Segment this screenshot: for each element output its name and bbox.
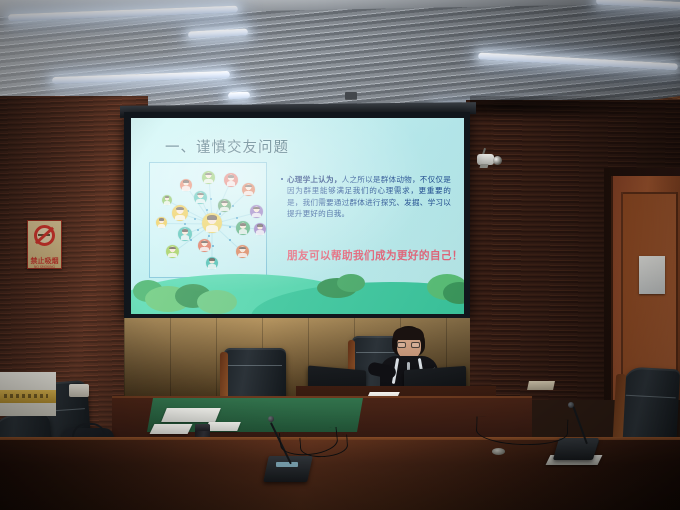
avatar — [236, 245, 249, 258]
avatar-body — [200, 247, 208, 252]
avatar-body — [168, 253, 176, 258]
avatar-body — [164, 201, 170, 205]
avatar — [156, 217, 167, 228]
side-cabinet — [0, 372, 56, 416]
network-node-dot — [206, 209, 208, 211]
no-smoking-sign: 禁止吸烟 NO SMOKING — [27, 220, 62, 269]
microphone-base-right[interactable] — [553, 438, 599, 460]
avatar-hair — [201, 241, 207, 244]
avatar — [242, 183, 255, 196]
avatar — [180, 179, 192, 191]
avatar — [224, 173, 238, 187]
ceiling-light-4 — [228, 92, 250, 100]
avatar-body — [204, 179, 212, 184]
avatar-hair — [221, 201, 227, 204]
avatar-hair — [176, 207, 184, 211]
avatar-body — [175, 215, 185, 221]
ceiling-vent-icon — [345, 92, 357, 99]
door-note — [639, 256, 665, 294]
avatar — [172, 205, 188, 221]
network-node-dot — [184, 223, 186, 225]
avatar-body — [206, 225, 219, 232]
table-papers-3 — [205, 422, 241, 431]
bush-4 — [197, 290, 237, 314]
avatar — [236, 221, 250, 235]
avatar-body — [244, 191, 252, 196]
avatar-body — [158, 224, 165, 228]
avatar-hair — [240, 223, 247, 226]
avatar-body — [239, 229, 248, 234]
avatar-hair — [159, 218, 164, 220]
avatar-hair — [183, 180, 189, 183]
avatar — [162, 195, 172, 205]
chair-back-left-frame — [220, 352, 228, 400]
glasses-lens-left — [397, 342, 406, 348]
avatar — [198, 239, 211, 252]
avatar-body — [227, 181, 236, 186]
conference-room-photo: 禁止吸烟 NO SMOKING 一、谨慎交友问题 心理学上认为，人之所以是群体动… — [0, 0, 680, 510]
avatar-hair — [245, 185, 251, 188]
slide-body-lead: 心理学上认为， — [287, 175, 342, 184]
bottle-cap — [195, 424, 210, 431]
avatar-hair — [197, 193, 203, 196]
projection-screen: 一、谨慎交友问题 心理学上认为，人之所以是群体动物，不仅仅是因为群里能够满足我们… — [131, 118, 464, 314]
microphone-head-right — [568, 402, 574, 408]
chair-back-left — [224, 348, 286, 402]
avatar — [194, 191, 207, 204]
avatar-hair — [165, 196, 170, 198]
cabinet-label-band — [0, 390, 56, 403]
glasses-lens-right — [411, 342, 420, 348]
avatar-hair — [239, 247, 245, 250]
camera-lens — [493, 156, 502, 165]
avatar-hair — [182, 229, 189, 232]
avatar — [254, 223, 266, 235]
avatar-body — [182, 186, 190, 190]
avatar-body — [196, 199, 204, 204]
avatar-hair — [228, 175, 235, 178]
avatar-body — [181, 235, 190, 240]
avatar-body — [256, 230, 264, 234]
slide-title: 一、谨慎交友问题 — [165, 136, 289, 157]
avatar — [250, 205, 263, 218]
avatar — [202, 213, 222, 233]
bush-6 — [337, 274, 365, 292]
slide-body-text: 心理学上认为，人之所以是群体动物，不仅仅是因为群里能够满足我们的心理需求，更重要… — [287, 174, 451, 220]
door[interactable] — [611, 176, 680, 400]
avatar — [166, 245, 179, 258]
network-node-dot — [210, 198, 212, 200]
avatar-hair — [169, 247, 175, 250]
no-smoking-subtext: NO SMOKING — [28, 265, 61, 269]
microphone-head-left — [268, 416, 274, 422]
network-node-dot — [197, 229, 199, 231]
bullet-point-icon — [281, 178, 283, 180]
presenter-fringe — [393, 328, 424, 340]
table-cable-grommet[interactable] — [492, 448, 505, 455]
network-node-dot — [232, 205, 234, 207]
avatar — [218, 199, 231, 212]
avatar-hair — [253, 207, 259, 210]
avatar-hair — [205, 173, 211, 176]
avatar-body — [252, 213, 260, 218]
avatar-hair — [257, 224, 263, 227]
avatar-body — [238, 253, 246, 258]
network-node-dot — [190, 239, 192, 241]
glasses-icon — [397, 342, 420, 348]
ceiling-shadow — [470, 96, 680, 122]
network-node-dot — [212, 245, 214, 247]
microphone-indicator-left — [276, 462, 298, 467]
avatar-hair — [207, 215, 217, 219]
slide-hills-decoration — [131, 260, 464, 314]
avatar — [202, 171, 215, 184]
avatar-body — [220, 207, 228, 212]
camera-mount — [480, 164, 489, 168]
wall-power-socket[interactable] — [69, 384, 89, 397]
security-camera-icon — [477, 152, 503, 168]
table-papers-1 — [161, 408, 221, 422]
table-papers-2 — [150, 424, 193, 434]
wall-plate[interactable] — [527, 381, 555, 390]
no-smoking-text: 禁止吸烟 — [28, 257, 61, 265]
avatar — [178, 227, 192, 241]
network-node-dot — [229, 239, 231, 241]
